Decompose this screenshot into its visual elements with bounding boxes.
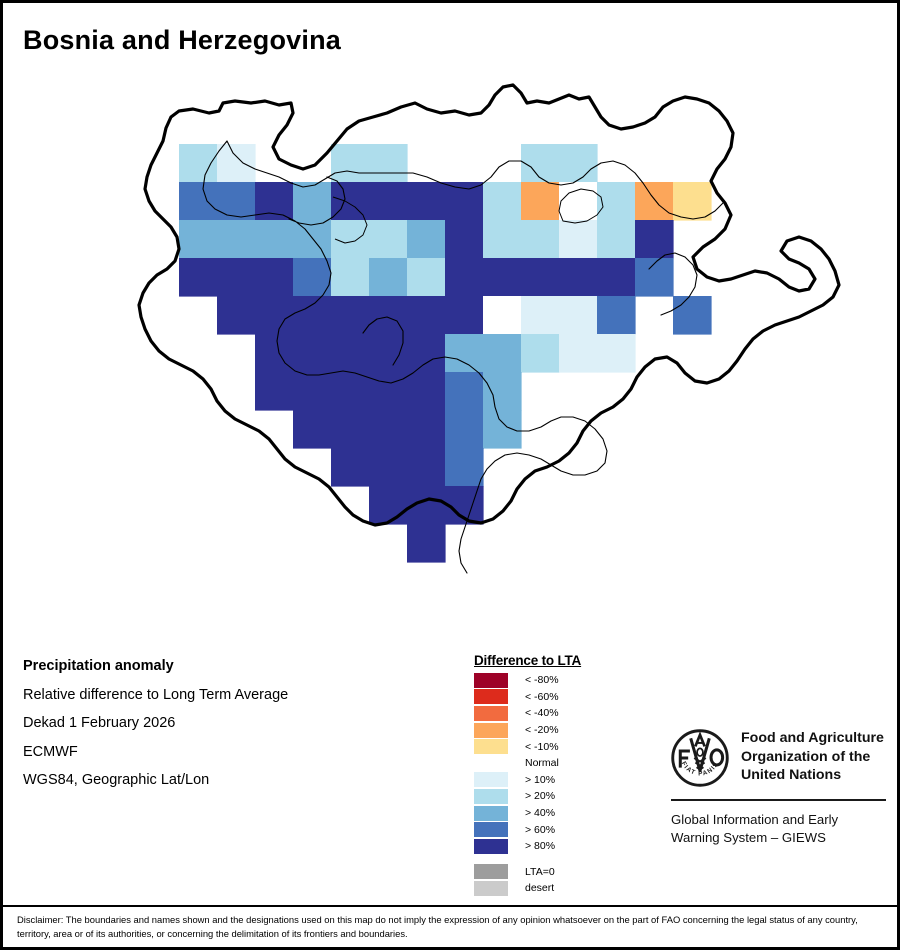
anomaly-cell — [217, 144, 256, 183]
legend-item-row[interactable]: < -10% — [474, 738, 644, 755]
anomaly-cell — [673, 182, 712, 221]
fao-org-line-2: Organization of the — [741, 748, 884, 767]
giews-programme-name: Global Information and Early Warning Sys… — [671, 811, 886, 847]
map-page: Bosnia and Herzegovina Precipitation ano… — [0, 0, 900, 950]
legend-item-swatch — [474, 673, 508, 688]
precipitation-anomaly-map[interactable] — [3, 73, 897, 583]
legend-item-label: < -10% — [525, 741, 559, 753]
anomaly-cell — [483, 372, 522, 411]
metadata-projection: WGS84, Geographic Lat/Lon — [23, 772, 423, 788]
legend-item-label: > 10% — [525, 774, 555, 786]
anomaly-cell — [445, 220, 484, 259]
anomaly-cell — [293, 182, 332, 221]
legend-item-row[interactable]: > 10% — [474, 772, 644, 789]
legend-item-swatch — [474, 706, 508, 721]
anomaly-cell — [179, 220, 218, 259]
anomaly-cell — [559, 258, 598, 297]
anomaly-cell — [445, 372, 484, 411]
anomaly-cell — [331, 144, 370, 183]
anomaly-cell — [293, 220, 332, 259]
anomaly-cell — [521, 258, 560, 297]
fao-emblem-icon: FIAT PANIS — [671, 729, 729, 787]
anomaly-cell — [331, 372, 370, 411]
anomaly-cell — [407, 334, 446, 373]
anomaly-cell — [217, 296, 256, 335]
anomaly-cell — [407, 524, 446, 563]
legend-item-row[interactable]: < -80% — [474, 672, 644, 689]
anomaly-cell — [407, 296, 446, 335]
anomaly-cell — [635, 220, 674, 259]
metadata-measure: Relative difference to Long Term Average — [23, 687, 423, 703]
anomaly-cell — [597, 296, 636, 335]
legend-item-row[interactable]: > 40% — [474, 805, 644, 822]
anomaly-cell — [217, 258, 256, 297]
anomaly-cell — [255, 372, 294, 411]
metadata-source: ECMWF — [23, 744, 423, 760]
legend-item-swatch — [474, 756, 508, 771]
anomaly-cell — [369, 334, 408, 373]
giews-line-2: Warning System – GIEWS — [671, 829, 886, 847]
legend-item-label: < -40% — [525, 707, 559, 719]
anomaly-cell — [559, 182, 598, 221]
giews-line-1: Global Information and Early — [671, 811, 886, 829]
anomaly-cell — [445, 448, 484, 487]
anomaly-cell — [331, 410, 370, 449]
fao-branding-block: FIAT PANIS Food and Agriculture Organiza… — [671, 729, 886, 847]
legend-item-swatch — [474, 789, 508, 804]
legend-item-row[interactable]: < -40% — [474, 705, 644, 722]
anomaly-cell — [369, 486, 408, 525]
anomaly-cell — [597, 334, 636, 373]
anomaly-cell — [483, 296, 522, 335]
anomaly-cell — [483, 182, 522, 221]
legend-item-label: Normal — [525, 757, 559, 769]
anomaly-cell — [293, 334, 332, 373]
anomaly-cell — [407, 220, 446, 259]
anomaly-cell — [521, 334, 560, 373]
anomaly-cell — [407, 258, 446, 297]
legend-item-row[interactable]: < -20% — [474, 722, 644, 739]
legend-item-label: > 40% — [525, 807, 555, 819]
anomaly-cell — [445, 334, 484, 373]
anomaly-cell — [521, 182, 560, 221]
legend-title: Difference to LTA — [474, 653, 644, 668]
map-legend: Difference to LTA < -80%< -60%< -40%< -2… — [474, 653, 644, 897]
legend-item-swatch — [474, 689, 508, 704]
disclaimer-divider — [3, 905, 897, 907]
anomaly-cell — [217, 182, 256, 221]
anomaly-cell — [331, 334, 370, 373]
fao-org-line-3: United Nations — [741, 766, 884, 785]
anomaly-cell — [407, 372, 446, 411]
anomaly-cell — [483, 334, 522, 373]
anomaly-cell — [445, 258, 484, 297]
anomaly-cell — [255, 220, 294, 259]
legend-item-swatch — [474, 806, 508, 821]
legend-item-label: < -80% — [525, 674, 559, 686]
anomaly-cell — [369, 144, 408, 183]
disclaimer-text: Disclaimer: The boundaries and names sho… — [17, 913, 883, 941]
page-title: Bosnia and Herzegovina — [23, 25, 341, 56]
legend-extra-row[interactable]: desert — [474, 880, 644, 897]
legend-item-swatch — [474, 723, 508, 738]
anomaly-cell — [445, 410, 484, 449]
legend-item-swatch — [474, 839, 508, 854]
anomaly-grid-layer — [179, 144, 712, 563]
anomaly-cell — [217, 220, 256, 259]
anomaly-cell — [445, 296, 484, 335]
map-metadata-block: Precipitation anomaly Relative differenc… — [23, 658, 423, 801]
anomaly-cell — [331, 448, 370, 487]
anomaly-cell — [673, 296, 712, 335]
legend-spacer — [474, 855, 644, 864]
anomaly-cell — [559, 144, 598, 183]
anomaly-cell — [255, 258, 294, 297]
anomaly-cell — [521, 296, 560, 335]
legend-item-swatch — [474, 739, 508, 754]
fao-organization-name: Food and Agriculture Organization of the… — [741, 729, 884, 785]
anomaly-cell — [179, 182, 218, 221]
legend-item-label: < -60% — [525, 691, 559, 703]
anomaly-cell — [179, 144, 218, 183]
anomaly-cell — [331, 182, 370, 221]
anomaly-cell — [559, 334, 598, 373]
legend-item-row[interactable]: < -60% — [474, 689, 644, 706]
legend-item-label: > 80% — [525, 840, 555, 852]
anomaly-cell — [369, 410, 408, 449]
fao-divider — [671, 799, 886, 801]
legend-extra-label: LTA=0 — [525, 866, 555, 878]
anomaly-cell — [255, 334, 294, 373]
anomaly-cell — [331, 258, 370, 297]
legend-extra-list: LTA=0desert — [474, 864, 644, 897]
anomaly-cell — [293, 410, 332, 449]
anomaly-cell — [483, 410, 522, 449]
legend-item-swatch — [474, 772, 508, 787]
anomaly-cell — [521, 144, 560, 183]
fao-org-line-1: Food and Agriculture — [741, 729, 884, 748]
legend-item-swatch — [474, 822, 508, 837]
legend-item-label: > 60% — [525, 824, 555, 836]
anomaly-cell — [369, 220, 408, 259]
legend-item-row[interactable]: > 80% — [474, 838, 644, 855]
legend-item-label: < -20% — [525, 724, 559, 736]
anomaly-cell — [635, 182, 674, 221]
anomaly-cell — [179, 258, 218, 297]
anomaly-cell — [293, 296, 332, 335]
anomaly-cell — [559, 220, 598, 259]
anomaly-cell — [407, 448, 446, 487]
legend-extra-swatch — [474, 864, 508, 879]
legend-item-label: > 20% — [525, 790, 555, 802]
legend-item-row[interactable]: > 20% — [474, 788, 644, 805]
anomaly-cell — [407, 410, 446, 449]
anomaly-cell — [521, 220, 560, 259]
anomaly-cell — [597, 258, 636, 297]
anomaly-cell — [369, 258, 408, 297]
legend-item-row[interactable]: Normal — [474, 755, 644, 772]
anomaly-cell — [483, 220, 522, 259]
anomaly-cell — [255, 296, 294, 335]
anomaly-cell — [559, 296, 598, 335]
anomaly-cell — [331, 296, 370, 335]
metadata-period: Dekad 1 February 2026 — [23, 715, 423, 731]
legend-extra-label: desert — [525, 882, 554, 894]
anomaly-cell — [293, 372, 332, 411]
legend-item-list: < -80%< -60%< -40%< -20%< -10%Normal> 10… — [474, 672, 644, 855]
anomaly-cell — [597, 220, 636, 259]
anomaly-cell — [483, 258, 522, 297]
anomaly-cell — [369, 448, 408, 487]
legend-item-row[interactable]: > 60% — [474, 821, 644, 838]
anomaly-cell — [407, 182, 446, 221]
anomaly-cell — [369, 182, 408, 221]
legend-extra-swatch — [474, 881, 508, 896]
metadata-title: Precipitation anomaly — [23, 658, 423, 674]
anomaly-cell — [597, 182, 636, 221]
legend-extra-row[interactable]: LTA=0 — [474, 864, 644, 881]
anomaly-cell — [369, 372, 408, 411]
anomaly-cell — [255, 182, 294, 221]
map-canvas[interactable] — [3, 73, 897, 583]
